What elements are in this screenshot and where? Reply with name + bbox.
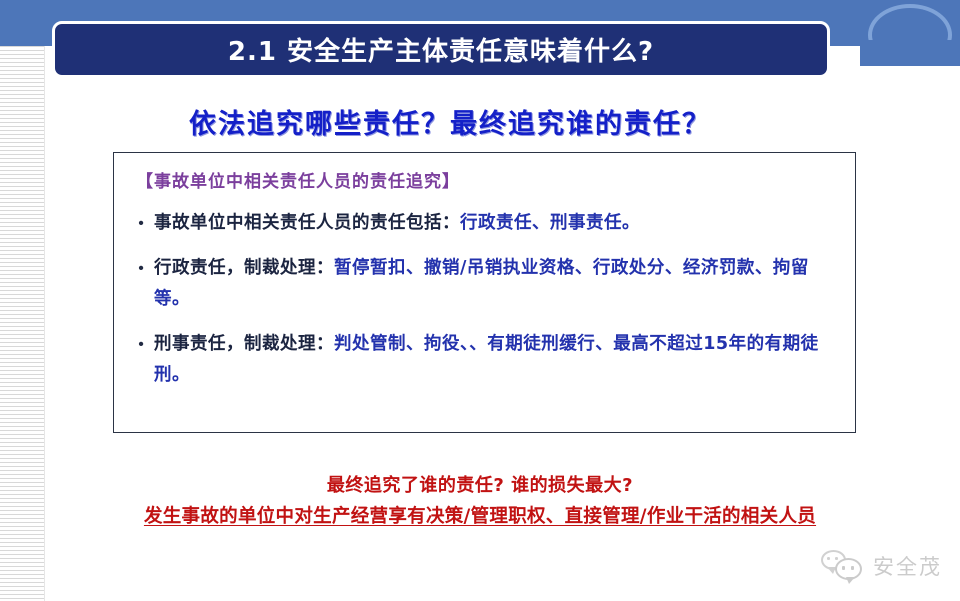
arc-mask bbox=[860, 40, 960, 66]
bullet-text: 事故单位中相关责任人员的责任包括：行政责任、刑事责任。 bbox=[154, 208, 844, 239]
bullet-text-dark: 行政责任，制裁处理： bbox=[154, 258, 334, 278]
subtitle-heading: 依法追究哪些责任？最终追究谁的责任？ bbox=[0, 102, 900, 141]
list-item: • 事故单位中相关责任人员的责任包括：行政责任、刑事责任。 bbox=[128, 208, 844, 239]
watermark: 安全茂 bbox=[821, 549, 942, 583]
content-box-heading: 【事故单位中相关责任人员的责任追究】 bbox=[136, 167, 460, 192]
slide-canvas: 2.1 安全生产主体责任意味着什么? 依法追究哪些责任？最终追究谁的责任？ 【事… bbox=[0, 0, 960, 601]
bullet-text: 刑事责任，制裁处理：判处管制、拘役、、有期徒刑缓行、最高不超过15年的有期徒刑。 bbox=[154, 329, 844, 391]
bullet-text-dark: 刑事责任，制裁处理： bbox=[154, 334, 334, 354]
conclusion-question: 最终追究了谁的责任? 谁的损失最大? bbox=[0, 471, 960, 497]
conclusion-answer: 发生事故的单位中对生产经营享有决策/管理职权、直接管理/作业干活的相关人员 bbox=[0, 502, 960, 528]
content-box: 【事故单位中相关责任人员的责任追究】 • 事故单位中相关责任人员的责任包括：行政… bbox=[113, 152, 856, 433]
list-item: • 刑事责任，制裁处理：判处管制、拘役、、有期徒刑缓行、最高不超过15年的有期徒… bbox=[128, 329, 844, 391]
bullet-list: • 事故单位中相关责任人员的责任包括：行政责任、刑事责任。 • 行政责任，制裁处… bbox=[128, 208, 844, 405]
watermark-label: 安全茂 bbox=[873, 551, 942, 581]
bullet-text-blue: 行政责任、刑事责任。 bbox=[460, 213, 640, 233]
bubble-dot-left bbox=[827, 557, 830, 560]
bullet-marker-icon: • bbox=[128, 253, 154, 284]
list-item: • 行政责任，制裁处理：暂停暂扣、撤销/吊销执业资格、行政处分、经济罚款、拘留等… bbox=[128, 253, 844, 315]
title-banner: 2.1 安全生产主体责任意味着什么? bbox=[52, 21, 830, 78]
bubble-front-shape bbox=[835, 558, 862, 580]
page-title: 2.1 安全生产主体责任意味着什么? bbox=[228, 31, 654, 68]
bubble-eye-left bbox=[842, 566, 845, 570]
bullet-marker-icon: • bbox=[128, 329, 154, 360]
bubble-dot-right bbox=[835, 557, 838, 560]
bubble-eye-right bbox=[851, 566, 854, 570]
bullet-text-dark: 事故单位中相关责任人员的责任包括： bbox=[154, 213, 460, 233]
wechat-chat-bubbles-icon bbox=[821, 549, 865, 583]
bullet-text: 行政责任，制裁处理：暂停暂扣、撤销/吊销执业资格、行政处分、经济罚款、拘留等。 bbox=[154, 253, 844, 315]
bullet-marker-icon: • bbox=[128, 208, 154, 239]
